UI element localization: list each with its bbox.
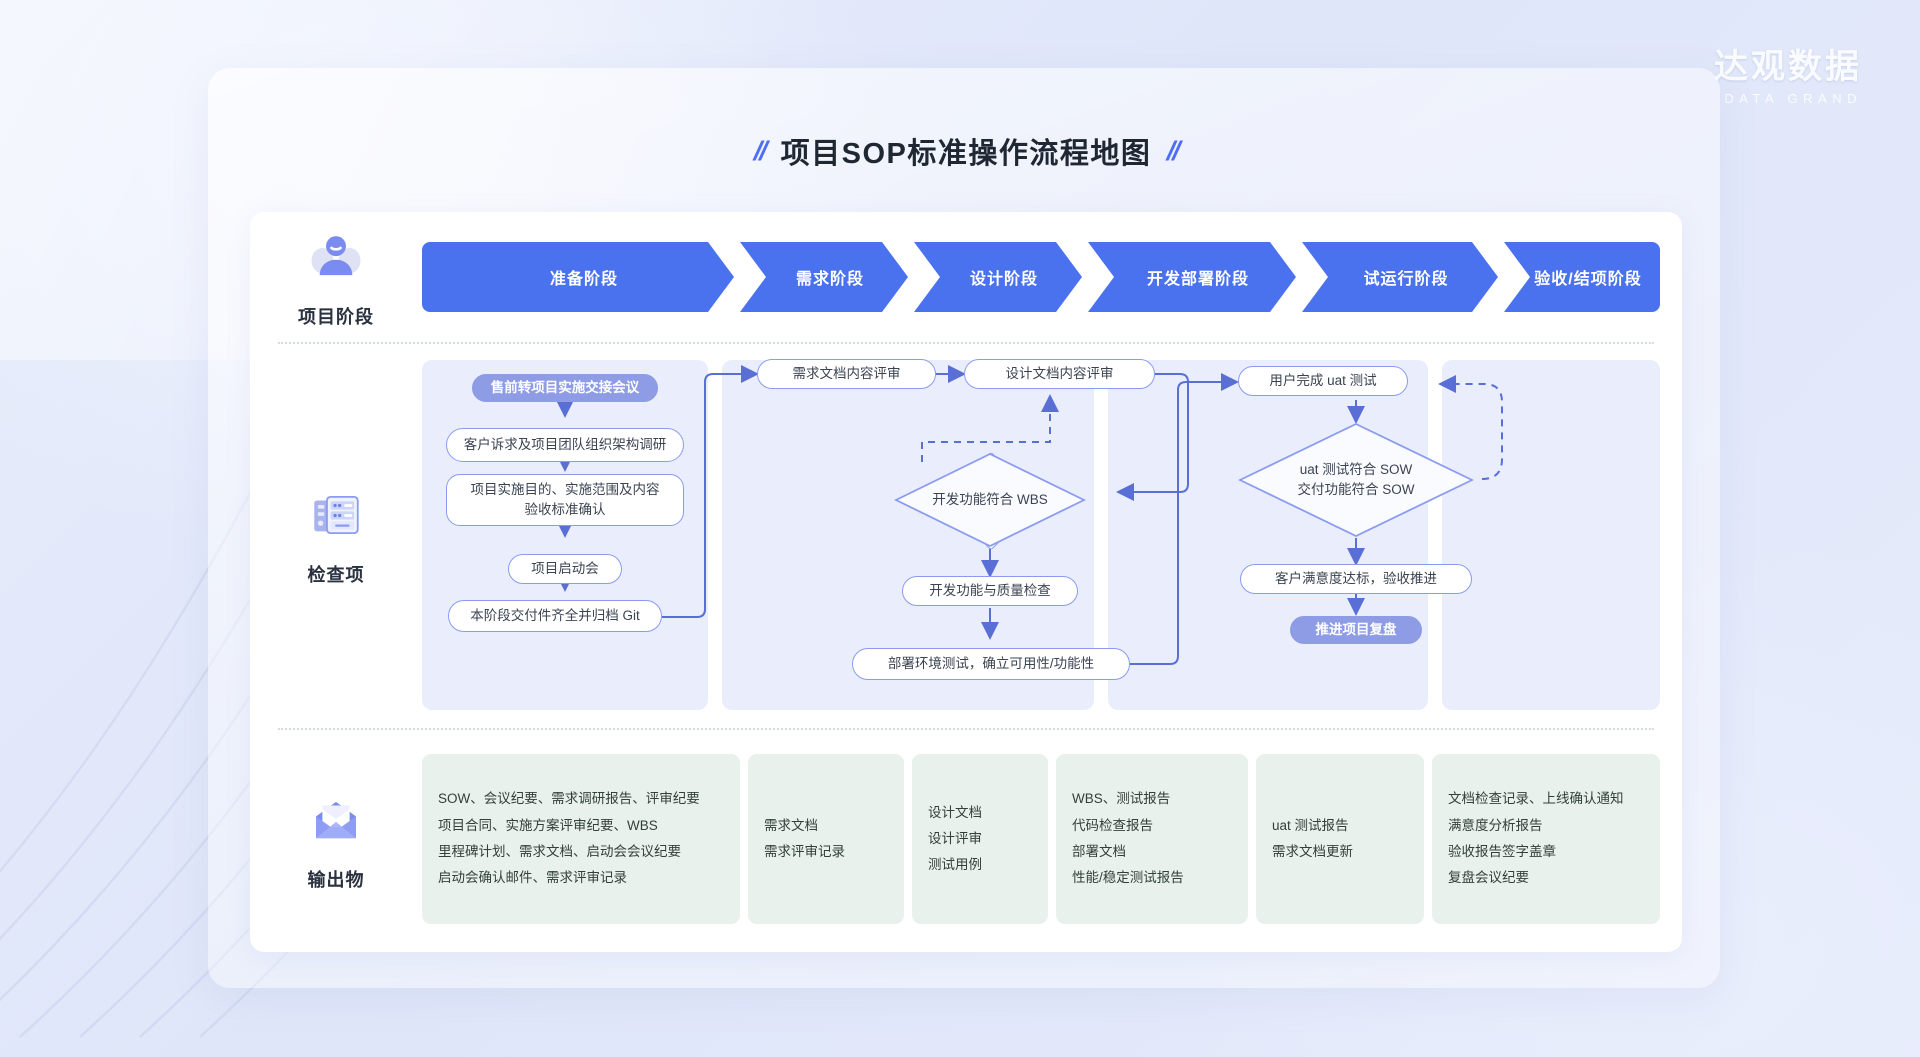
rail-label-check-items: 检查项: [308, 561, 365, 587]
rail-project-phase: 项目阶段: [250, 212, 422, 342]
check-lane-acceptance: [1442, 360, 1660, 710]
output-line: 满意度分析报告: [1448, 813, 1644, 839]
output-line: 设计文档: [928, 800, 1032, 826]
phase-chevron-4[interactable]: 试运行阶段: [1302, 242, 1498, 312]
output-line: 性能/稳定测试报告: [1072, 865, 1232, 891]
output-line: 部署文档: [1072, 839, 1232, 865]
check-node-decision-sow[interactable]: uat 测试符合 SOW 交付功能符合 SOW: [1238, 422, 1474, 538]
check-node-deploy-env-test[interactable]: 部署环境测试，确立可用性/功能性: [852, 648, 1130, 680]
check-node-uat-complete[interactable]: 用户完成 uat 测试: [1238, 366, 1408, 396]
output-box-requirement[interactable]: 需求文档 需求评审记录: [748, 754, 904, 924]
output-line: 启动会确认邮件、需求评审记录: [438, 865, 724, 891]
rail-check-items: 检查项: [250, 342, 422, 728]
phase-row: 项目阶段 准备阶段 需求阶段 设计阶段 开发部署阶段 试运行阶段 验收/结项阶段: [250, 212, 1682, 342]
phase-chevron-1[interactable]: 需求阶段: [740, 242, 908, 312]
check-node-decision-sow-line1: uat 测试符合 SOW: [1300, 460, 1413, 480]
output-line: 项目合同、实施方案评审纪要、WBS: [438, 813, 724, 839]
check-node-decision-sow-line2: 交付功能符合 SOW: [1298, 480, 1415, 500]
output-track: SOW、会议纪要、需求调研报告、评审纪要 项目合同、实施方案评审纪要、WBS 里…: [422, 754, 1660, 924]
phase-label-2: 设计阶段: [958, 265, 1038, 289]
check-node-handover-meeting[interactable]: 售前转项目实施交接会议: [472, 374, 658, 402]
phase-chevron-0[interactable]: 准备阶段: [422, 242, 734, 312]
phase-chevron-3[interactable]: 开发部署阶段: [1088, 242, 1296, 312]
output-line: 需求文档: [764, 813, 888, 839]
phase-label-3: 开发部署阶段: [1135, 265, 1249, 289]
check-node-design-doc-review[interactable]: 设计文档内容评审: [964, 359, 1155, 389]
check-node-req-doc-review[interactable]: 需求文档内容评审: [757, 359, 936, 389]
rail-label-outputs: 输出物: [308, 866, 365, 892]
phase-label-0: 准备阶段: [538, 265, 618, 289]
brand-logo-cn: 达观数据: [1714, 50, 1862, 84]
output-line: 代码检查报告: [1072, 813, 1232, 839]
check-lane-preparation: [422, 360, 708, 710]
output-box-acceptance[interactable]: 文档检查记录、上线确认通知 满意度分析报告 验收报告签字盖章 复盘会议纪要: [1432, 754, 1660, 924]
output-line: 测试用例: [928, 852, 1032, 878]
output-line: 需求文档更新: [1272, 839, 1408, 865]
output-line: 设计评审: [928, 826, 1032, 852]
output-line: SOW、会议纪要、需求调研报告、评审纪要: [438, 786, 724, 812]
output-box-development[interactable]: WBS、测试报告 代码检查报告 部署文档 性能/稳定测试报告: [1056, 754, 1248, 924]
server-checklist-icon: [304, 483, 368, 547]
output-box-trial-run[interactable]: uat 测试报告 需求文档更新: [1256, 754, 1424, 924]
page-title: // 项目SOP标准操作流程地图 //: [250, 130, 1682, 172]
output-line: 复盘会议纪要: [1448, 865, 1644, 891]
check-node-scope-confirm-line1: 项目实施目的、实施范围及内容: [471, 480, 660, 500]
check-node-project-retrospective[interactable]: 推进项目复盘: [1290, 616, 1422, 644]
check-node-customer-satisfaction[interactable]: 客户满意度达标，验收推进: [1240, 564, 1472, 594]
output-box-design[interactable]: 设计文档 设计评审 测试用例: [912, 754, 1048, 924]
check-node-scope-confirm[interactable]: 项目实施目的、实施范围及内容 验收标准确认: [446, 474, 684, 526]
phase-label-5: 验收/结项阶段: [1522, 265, 1641, 289]
check-node-scope-confirm-line2: 验收标准确认: [525, 500, 606, 520]
rail-outputs: 输出物: [250, 728, 422, 952]
page-title-text: 项目SOP标准操作流程地图: [781, 130, 1152, 172]
check-row: 检查项: [250, 342, 1682, 728]
output-box-preparation[interactable]: SOW、会议纪要、需求调研报告、评审纪要 项目合同、实施方案评审纪要、WBS 里…: [422, 754, 740, 924]
slash-left-icon: //: [753, 136, 766, 167]
check-node-dev-quality-check[interactable]: 开发功能与质量检查: [902, 576, 1078, 606]
output-row: 输出物 SOW、会议纪要、需求调研报告、评审纪要 项目合同、实施方案评审纪要、W…: [250, 728, 1682, 952]
check-node-kickoff-meeting[interactable]: 项目启动会: [508, 554, 622, 584]
open-envelope-icon: [304, 788, 368, 852]
brand-logo: 达观数据 DATA GRAND: [1714, 50, 1862, 106]
output-line: 文档检查记录、上线确认通知: [1448, 786, 1644, 812]
phase-chevron-2[interactable]: 设计阶段: [914, 242, 1082, 312]
output-line: WBS、测试报告: [1072, 786, 1232, 812]
check-node-decision-wbs-label: 开发功能符合 WBS: [932, 490, 1048, 510]
phase-chevron-5[interactable]: 验收/结项阶段: [1504, 242, 1660, 312]
output-line: 里程碑计划、需求文档、启动会会议纪要: [438, 839, 724, 865]
check-node-archive-git[interactable]: 本阶段交付件齐全并归档 Git: [448, 600, 662, 632]
phase-label-4: 试运行阶段: [1351, 265, 1448, 289]
phase-chevron-bar: 准备阶段 需求阶段 设计阶段 开发部署阶段 试运行阶段 验收/结项阶段: [422, 242, 1660, 312]
slash-right-icon: //: [1166, 136, 1179, 167]
diagram-card: 项目阶段 准备阶段 需求阶段 设计阶段 开发部署阶段 试运行阶段 验收/结项阶段: [250, 212, 1682, 952]
output-line: uat 测试报告: [1272, 813, 1408, 839]
output-line: 需求评审记录: [764, 839, 888, 865]
user-avatar-icon: [304, 225, 368, 289]
rail-label-project-phase: 项目阶段: [298, 303, 374, 329]
check-node-decision-wbs[interactable]: 开发功能符合 WBS: [894, 452, 1086, 548]
check-node-customer-research[interactable]: 客户诉求及项目团队组织架构调研: [446, 428, 684, 462]
phase-label-1: 需求阶段: [784, 265, 864, 289]
output-line: 验收报告签字盖章: [1448, 839, 1644, 865]
brand-logo-en: DATA GRAND: [1714, 91, 1862, 106]
